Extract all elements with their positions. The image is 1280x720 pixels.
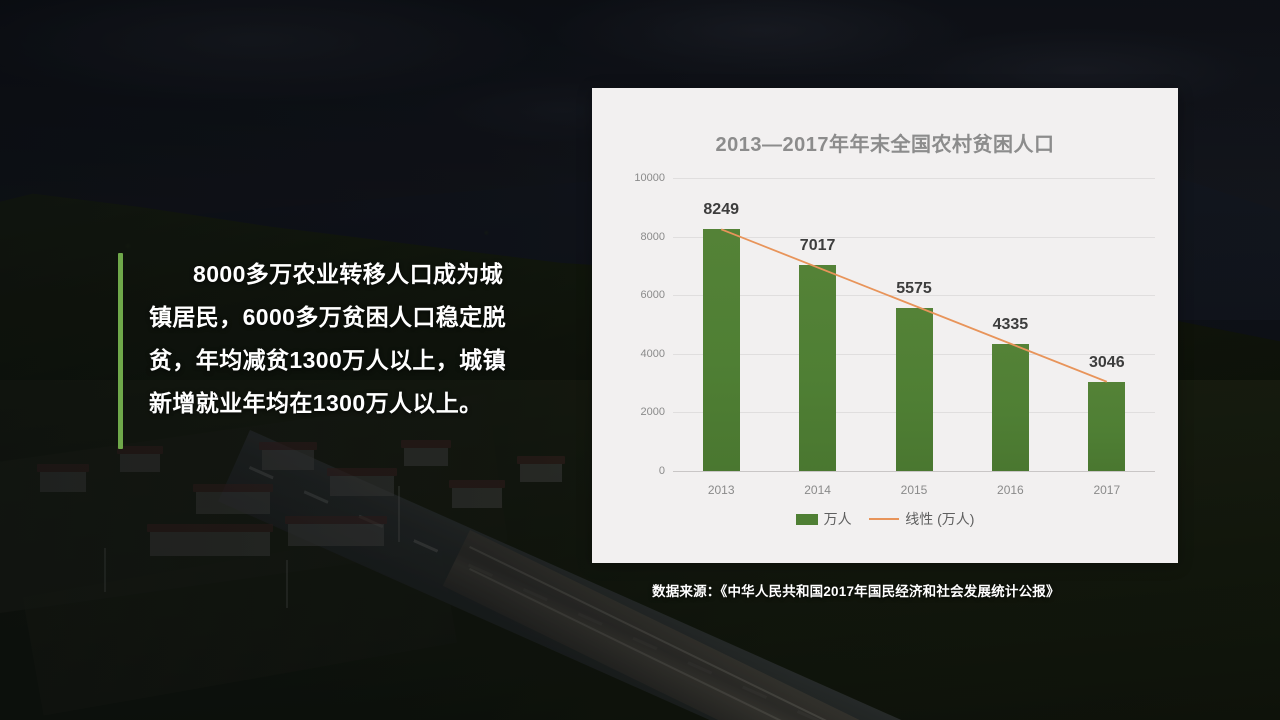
chart-bar[interactable] (703, 229, 740, 471)
headline-text: 8000多万农业转移人口成为城镇居民，6000多万贫困人口稳定脱贫，年均减贫13… (149, 253, 518, 449)
chart-bar[interactable] (1088, 382, 1125, 471)
x-axis-tick-label: 2015 (901, 483, 928, 497)
y-axis-tick-label: 0 (619, 465, 665, 477)
bar-value-label: 4335 (993, 316, 1029, 334)
y-axis-tick-label: 4000 (619, 348, 665, 360)
y-axis-tick-label: 8000 (619, 231, 665, 243)
trendline-svg (592, 88, 1178, 563)
legend-item-trendline[interactable]: 线性 (万人) (869, 509, 974, 529)
y-axis-tick-label: 6000 (619, 289, 665, 301)
legend-line-icon (869, 518, 899, 520)
source-note: 数据来源：《中华人民共和国2017年国民经济和社会发展统计公报》 (652, 580, 1060, 600)
x-axis-tick-label: 2016 (997, 483, 1024, 497)
slide: 8000多万农业转移人口成为城镇居民，6000多万贫困人口稳定脱贫，年均减贫13… (0, 0, 1280, 720)
legend-bar-swatch-icon (796, 514, 818, 525)
gridline (673, 237, 1155, 238)
chart-bar[interactable] (992, 344, 1029, 471)
headline-block: 8000多万农业转移人口成为城镇居民，6000多万贫困人口稳定脱贫，年均减贫13… (118, 253, 518, 449)
gridline (673, 178, 1155, 179)
legend-trendline-label: 线性 (万人) (905, 509, 974, 529)
legend-bar-label: 万人 (824, 509, 852, 529)
bar-value-label: 7017 (800, 237, 836, 255)
accent-bar (118, 253, 123, 449)
bar-value-label: 5575 (896, 280, 932, 298)
chart-bar[interactable] (896, 308, 933, 471)
bar-value-label: 8249 (703, 201, 739, 219)
x-axis-line (673, 471, 1155, 472)
chart-panel: 2013—2017年年末全国农村贫困人口 0200040006000800010… (592, 88, 1178, 563)
legend-item-bar[interactable]: 万人 (796, 509, 852, 529)
y-axis-tick-label: 10000 (619, 172, 665, 184)
x-axis-tick-label: 2017 (1093, 483, 1120, 497)
x-axis-tick-label: 2014 (804, 483, 831, 497)
chart-legend: 万人 线性 (万人) (592, 509, 1178, 529)
chart-plot-area: 0200040006000800010000 82497017557543353… (592, 88, 1178, 563)
chart-bar[interactable] (799, 265, 836, 471)
y-axis-tick-label: 2000 (619, 406, 665, 418)
x-axis-tick-label: 2013 (708, 483, 735, 497)
bar-value-label: 3046 (1089, 354, 1125, 372)
